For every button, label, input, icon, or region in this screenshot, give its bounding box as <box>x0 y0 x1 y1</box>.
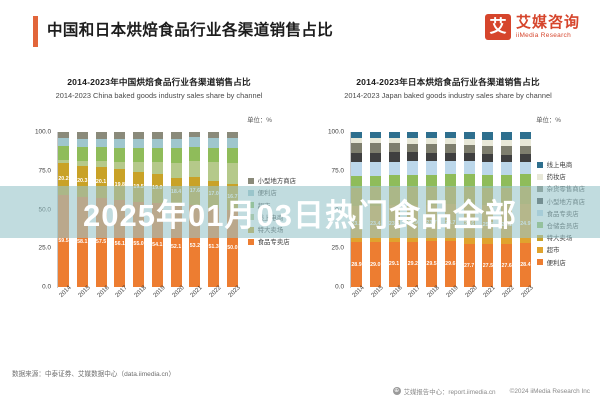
legend-item[interactable]: 食品专卖店 <box>537 209 585 218</box>
bar-segment <box>370 162 381 176</box>
bar-value-label-secondary: 18.4 <box>171 189 181 195</box>
stacked-bar[interactable]: 17.051.3 <box>208 132 219 287</box>
bar-segment <box>482 154 493 162</box>
bar-segment <box>501 155 512 163</box>
bar-segment <box>482 146 493 154</box>
stacked-bar[interactable]: 19.555.0 <box>133 132 144 287</box>
bar-value-label-secondary: 19.8 <box>115 182 125 188</box>
legend-label: 杂货零售商店 <box>547 184 585 193</box>
stacked-bar[interactable]: 23.929.2 <box>407 132 418 287</box>
bar-value-label-secondary: 19.0 <box>152 185 162 191</box>
bar-segment: 27.6 <box>501 244 512 287</box>
legend-china: 小型地方商店便利店超市线上电商特大卖场食品专卖店 <box>248 176 296 246</box>
bar-value-label-secondary: 23.9 <box>408 220 418 226</box>
bar-segment <box>426 144 437 153</box>
bar-segment: 25.1 <box>501 205 512 244</box>
brand-text: 艾媒咨询 iiMedia Research <box>516 15 580 40</box>
bar-value-label-secondary: 16.7 <box>227 194 237 200</box>
report-center: ⊕ 艾媒报告中心：report.iimedia.cn <box>393 387 496 396</box>
y-axis-tick: 50.0 <box>39 206 51 213</box>
chart-title-china: 2014-2023年中国烘焙食品行业各渠道销售占比 <box>14 76 304 88</box>
bar-segment <box>227 138 238 148</box>
bar-segment: 19.5 <box>133 172 144 202</box>
bar-segment <box>171 148 182 163</box>
legend-label: 小型地方商店 <box>258 176 296 185</box>
bar-segment <box>501 188 512 205</box>
bar-segment <box>370 153 381 162</box>
bar-value-label-secondary: 20.3 <box>77 178 87 184</box>
bar-value-label: 29.0 <box>370 262 380 268</box>
source-note: 数据来源：中泰证券、艾媒数据中心（data.iimedia.cn） <box>12 368 175 378</box>
stacked-bar[interactable]: 23.729.6 <box>445 132 456 287</box>
y-axis-tick: 50.0 <box>332 206 344 213</box>
bar-group-japan: 23.228.923.429.023.629.123.929.223.729.5… <box>351 132 531 287</box>
bar-segment <box>520 187 531 204</box>
bar-segment: 59.5 <box>58 195 69 287</box>
y-axis-tick: 75.0 <box>332 167 344 174</box>
stacked-bar[interactable]: 25.627.7 <box>464 132 475 287</box>
bar-segment <box>520 146 531 154</box>
bar-segment: 23.4 <box>370 206 381 242</box>
legend-swatch <box>248 190 254 196</box>
bar-group-china: 20.259.520.358.120.157.519.856.119.555.0… <box>58 132 238 287</box>
y-axis-tick: 25.0 <box>39 245 51 252</box>
bar-value-label: 52.1 <box>171 244 181 250</box>
bar-segment: 16.7 <box>227 184 238 210</box>
bar-segment <box>370 187 381 205</box>
bar-segment <box>189 137 200 147</box>
bar-segment <box>501 132 512 140</box>
bar-segment <box>171 163 182 178</box>
bar-segment <box>152 139 163 148</box>
chart-title-japan: 2014-2023年日本烘焙食品行业各渠道销售占比 <box>303 76 593 88</box>
legend-swatch <box>537 210 543 216</box>
bar-segment <box>133 139 144 148</box>
bar-segment <box>171 139 182 148</box>
stacked-bar[interactable]: 18.452.1 <box>171 132 182 287</box>
bar-segment <box>351 162 362 176</box>
legend-item[interactable]: 小型地方商店 <box>248 176 296 185</box>
bar-segment <box>133 132 144 139</box>
bar-segment: 17.6 <box>189 177 200 204</box>
bar-value-label-secondary: 23.4 <box>370 221 380 227</box>
chart-panel-china: 2014-2023年中国烘焙食品行业各渠道销售占比 2014-2023 Chin… <box>14 68 304 343</box>
bar-segment: 23.6 <box>389 205 400 242</box>
plot-area-japan: 23.228.923.429.023.629.123.929.223.729.5… <box>351 132 531 287</box>
y-axis-tick: 25.0 <box>332 245 344 252</box>
chart-unit-china: 单位：% <box>247 115 272 124</box>
legend-swatch <box>248 239 254 245</box>
bar-segment <box>445 187 456 205</box>
chart-subtitle-japan: 2014-2023 Japan baked goods industry sal… <box>313 91 583 102</box>
chart-unit-japan: 单位：% <box>536 115 561 124</box>
y-axis-japan: 0.025.050.075.0100.0 <box>303 132 349 287</box>
bar-segment <box>407 152 418 161</box>
bar-segment <box>445 153 456 162</box>
bar-value-label-secondary: 19.5 <box>133 184 143 190</box>
bar-segment: 54.1 <box>152 203 163 287</box>
bar-segment <box>464 187 475 205</box>
bar-segment <box>426 187 437 205</box>
bar-value-label-secondary: 23.2 <box>351 221 361 227</box>
bar-segment: 53.2 <box>189 205 200 287</box>
y-axis-tick: 75.0 <box>39 167 51 174</box>
bar-segment <box>227 163 238 184</box>
legend-swatch <box>537 174 543 180</box>
bar-segment <box>445 161 456 174</box>
legend-swatch <box>537 247 543 253</box>
bar-segment: 24.9 <box>520 204 531 243</box>
bar-segment <box>501 162 512 175</box>
legend-label: 特大卖场 <box>258 225 284 234</box>
bar-value-label: 28.9 <box>351 262 361 268</box>
legend-item[interactable]: 药妆店 <box>537 172 585 181</box>
brand-name-cn: 艾媒咨询 <box>516 15 580 30</box>
y-axis-tick: 0.0 <box>335 284 344 291</box>
legend-label: 仓储会员店 <box>547 221 579 230</box>
bar-segment <box>520 162 531 175</box>
bar-segment: 52.1 <box>171 206 182 287</box>
legend-item[interactable]: 便利店 <box>537 258 585 267</box>
legend-label: 小型地方商店 <box>547 197 585 206</box>
bar-segment <box>351 153 362 163</box>
bar-segment <box>520 174 531 187</box>
bar-segment <box>520 139 531 146</box>
bar-segment <box>77 132 88 139</box>
bar-segment <box>96 147 107 161</box>
bar-value-label: 28.4 <box>520 262 530 268</box>
bar-segment <box>389 152 400 161</box>
bar-segment <box>389 143 400 152</box>
bar-segment <box>520 132 531 139</box>
bar-segment <box>370 143 381 152</box>
legend-item[interactable]: 线上电商 <box>537 160 585 169</box>
brand-mark-icon: 艾 <box>485 14 511 40</box>
bar-segment: 29.1 <box>389 242 400 287</box>
legend-swatch <box>248 227 254 233</box>
bar-segment <box>520 154 531 162</box>
legend-label: 超市 <box>258 201 271 210</box>
bar-segment <box>389 162 400 176</box>
infographic-page: 中国和日本烘焙食品行业各渠道销售占比 艾 艾媒咨询 iiMedia Resear… <box>0 0 600 400</box>
chart-subtitle-china: 2014-2023 China baked goods industry sal… <box>24 91 294 102</box>
bar-value-label-secondary: 23.6 <box>389 221 399 227</box>
bar-segment <box>426 153 437 162</box>
y-axis-tick: 0.0 <box>42 284 51 291</box>
bar-segment <box>482 175 493 188</box>
bar-segment <box>133 148 144 162</box>
footer-bar: ⊕ 艾媒报告中心：report.iimedia.cn ©2024 iiMedia… <box>0 382 600 400</box>
stacked-bar[interactable]: 20.358.1 <box>77 132 88 287</box>
bar-value-label: 53.2 <box>190 243 200 249</box>
bar-segment: 29.6 <box>445 241 456 287</box>
bar-segment <box>58 146 69 160</box>
bar-value-label: 29.5 <box>426 261 436 267</box>
bar-segment <box>482 132 493 140</box>
brand-name-en: iiMedia Research <box>516 33 580 40</box>
stacked-bar[interactable]: 17.653.2 <box>189 132 200 287</box>
bar-segment <box>482 188 493 205</box>
bar-segment: 20.2 <box>58 163 69 194</box>
bar-value-label-secondary: 25.3 <box>483 222 493 228</box>
stacked-bar[interactable]: 23.429.0 <box>370 132 381 287</box>
bar-segment: 28.4 <box>520 243 531 287</box>
legend-label: 药妆店 <box>547 172 566 181</box>
legend-label: 线上电商 <box>258 213 284 222</box>
bar-segment: 23.7 <box>426 205 437 242</box>
bar-segment <box>58 138 69 146</box>
bar-segment <box>208 162 219 181</box>
legend-label: 超市 <box>547 245 560 254</box>
legend-label: 特大卖场 <box>547 233 573 242</box>
bar-segment: 20.3 <box>77 166 88 197</box>
plot-area-china: 20.259.520.358.120.157.519.856.119.555.0… <box>58 132 238 287</box>
bar-segment <box>407 161 418 174</box>
bar-value-label-secondary: 17.6 <box>190 188 200 194</box>
bar-segment <box>389 187 400 205</box>
bar-segment: 27.5 <box>482 244 493 287</box>
legend-swatch <box>537 186 543 192</box>
bar-segment: 56.1 <box>114 200 125 287</box>
bar-segment: 23.2 <box>351 206 362 242</box>
legend-label: 便利店 <box>547 258 566 267</box>
report-center-label: 艾媒报告中心：report.iimedia.cn <box>404 387 496 396</box>
bar-segment <box>114 132 125 139</box>
title-accent-bar <box>33 16 38 47</box>
stacked-bar[interactable]: 23.729.5 <box>426 132 437 287</box>
bar-segment <box>96 139 107 147</box>
bar-value-label: 27.7 <box>464 263 474 269</box>
bar-segment <box>407 187 418 205</box>
legend-swatch <box>537 259 543 265</box>
legend-label: 线上电商 <box>547 160 573 169</box>
y-axis-tick: 100.0 <box>35 129 51 136</box>
legend-japan: 线上电商药妆店杂货零售商店小型地方商店食品专卖店仓储会员店特大卖场超市便利店 <box>537 160 585 267</box>
legend-swatch <box>537 235 543 241</box>
legend-swatch <box>248 202 254 208</box>
bar-value-label-secondary: 23.7 <box>445 220 455 226</box>
bar-value-label: 54.1 <box>152 242 162 248</box>
bar-segment <box>114 148 125 162</box>
bar-segment: 27.7 <box>464 244 475 287</box>
bar-segment <box>501 146 512 154</box>
bar-value-label-secondary: 20.2 <box>58 176 68 182</box>
stacked-bar[interactable]: 20.259.5 <box>58 132 69 287</box>
stacked-bar[interactable]: 23.228.9 <box>351 132 362 287</box>
bar-segment <box>370 176 381 188</box>
legend-item[interactable]: 便利店 <box>248 188 296 197</box>
bar-segment <box>133 162 144 171</box>
legend-item[interactable]: 食品专卖店 <box>248 237 296 246</box>
bar-segment <box>464 161 475 174</box>
bar-segment: 18.4 <box>171 178 182 207</box>
bar-segment <box>426 161 437 174</box>
bar-segment <box>407 175 418 187</box>
bar-value-label: 29.1 <box>389 261 399 267</box>
bar-value-label-secondary: 25.1 <box>501 222 511 228</box>
bar-segment <box>464 145 475 153</box>
bar-segment: 51.3 <box>208 208 219 288</box>
bar-value-label-secondary: 24.9 <box>520 221 530 227</box>
brand-logo: 艾 艾媒咨询 iiMedia Research <box>485 14 580 40</box>
bar-segment <box>152 162 163 173</box>
bar-value-label: 58.1 <box>77 239 87 245</box>
bar-segment: 58.1 <box>77 197 88 287</box>
bar-segment <box>351 143 362 152</box>
legend-item[interactable]: 小型地方商店 <box>537 197 585 206</box>
stacked-bar[interactable]: 19.054.1 <box>152 132 163 287</box>
bar-value-label: 57.5 <box>96 239 106 245</box>
bar-segment <box>407 144 418 153</box>
legend-swatch <box>537 222 543 228</box>
bar-value-label: 56.1 <box>115 241 125 247</box>
bar-segment: 25.3 <box>482 205 493 244</box>
bar-segment <box>114 162 125 169</box>
bar-segment <box>351 176 362 188</box>
copyright-label: ©2024 iiMedia Research Inc <box>510 388 590 395</box>
bar-segment: 20.1 <box>96 167 107 198</box>
bar-value-label: 55.0 <box>133 241 143 247</box>
bar-segment <box>482 162 493 175</box>
legend-item[interactable]: 特大卖场 <box>537 233 585 242</box>
stacked-bar[interactable]: 20.157.5 <box>96 132 107 287</box>
legend-swatch <box>248 178 254 184</box>
bar-value-label-secondary: 17.0 <box>208 191 218 197</box>
y-axis-tick: 100.0 <box>328 129 344 136</box>
legend-item[interactable]: 杂货零售商店 <box>537 184 585 193</box>
bar-segment <box>208 148 219 163</box>
bar-segment <box>501 175 512 188</box>
stacked-bar[interactable]: 19.856.1 <box>114 132 125 287</box>
stacked-bar[interactable]: 24.928.4 <box>520 132 531 287</box>
legend-swatch <box>537 162 543 168</box>
legend-item[interactable]: 超市 <box>537 245 585 254</box>
bar-segment: 19.8 <box>114 169 125 200</box>
bar-value-label: 51.3 <box>208 244 218 250</box>
bar-value-label: 50.0 <box>227 245 237 251</box>
bar-segment: 28.9 <box>351 242 362 287</box>
bar-segment: 29.0 <box>370 242 381 287</box>
bar-segment: 19.0 <box>152 174 163 203</box>
bar-segment <box>426 175 437 187</box>
page-title: 中国和日本烘焙食品行业各渠道销售占比 <box>47 18 333 40</box>
bar-segment: 29.5 <box>426 241 437 287</box>
bar-value-label: 29.6 <box>445 261 455 267</box>
bar-segment <box>351 188 362 207</box>
legend-label: 食品专卖店 <box>258 237 290 246</box>
bar-value-label: 29.2 <box>408 261 418 267</box>
bar-segment: 55.0 <box>133 202 144 287</box>
bar-segment <box>464 153 475 161</box>
y-axis-china: 0.025.050.075.0100.0 <box>14 132 56 287</box>
chart-panel-japan: 2014-2023年日本烘焙食品行业各渠道销售占比 2014-2023 Japa… <box>303 68 593 343</box>
stacked-bar[interactable]: 25.127.6 <box>501 132 512 287</box>
legend-item[interactable]: 线上电商 <box>248 213 296 222</box>
bar-value-label: 27.6 <box>501 263 511 269</box>
bar-segment <box>445 144 456 153</box>
legend-item[interactable]: 仓储会员店 <box>537 221 585 230</box>
globe-icon: ⊕ <box>393 387 401 395</box>
legend-item[interactable]: 特大卖场 <box>248 225 296 234</box>
bar-value-label-secondary: 25.6 <box>464 221 474 227</box>
bar-segment <box>114 139 125 148</box>
bar-segment: 50.0 <box>227 210 238 288</box>
bar-segment <box>77 139 88 147</box>
stacked-bar[interactable]: 23.629.1 <box>389 132 400 287</box>
legend-swatch <box>248 214 254 220</box>
header: 中国和日本烘焙食品行业各渠道销售占比 艾 艾媒咨询 iiMedia Resear… <box>0 0 600 62</box>
x-axis-china: 2014201520162017201820192020202120222023 <box>58 290 238 330</box>
bar-segment: 29.2 <box>407 242 418 287</box>
legend-item[interactable]: 超市 <box>248 201 296 210</box>
bar-segment: 23.9 <box>407 205 418 242</box>
legend-label: 便利店 <box>258 188 277 197</box>
bar-segment <box>152 148 163 162</box>
bar-value-label: 59.5 <box>58 238 68 244</box>
x-axis-japan: 2014201520162017201820192020202120222023 <box>351 290 531 330</box>
bar-segment <box>227 148 238 163</box>
bar-value-label: 27.5 <box>483 263 493 269</box>
stacked-bar[interactable]: 25.327.5 <box>482 132 493 287</box>
bar-value-label-secondary: 20.1 <box>96 179 106 185</box>
bar-segment: 57.5 <box>96 198 107 287</box>
stacked-bar[interactable]: 16.750.0 <box>227 132 238 287</box>
bar-segment <box>208 138 219 148</box>
bar-segment: 25.6 <box>464 204 475 244</box>
legend-label: 食品专卖店 <box>547 209 579 218</box>
bar-segment <box>464 174 475 187</box>
bar-segment <box>77 147 88 161</box>
bar-segment: 23.7 <box>445 204 456 241</box>
bar-value-label-secondary: 23.7 <box>426 220 436 226</box>
bar-segment: 17.0 <box>208 181 219 207</box>
bar-segment <box>445 174 456 186</box>
legend-swatch <box>537 198 543 204</box>
bar-segment <box>189 147 200 162</box>
bar-segment <box>189 161 200 177</box>
bar-segment <box>389 175 400 187</box>
